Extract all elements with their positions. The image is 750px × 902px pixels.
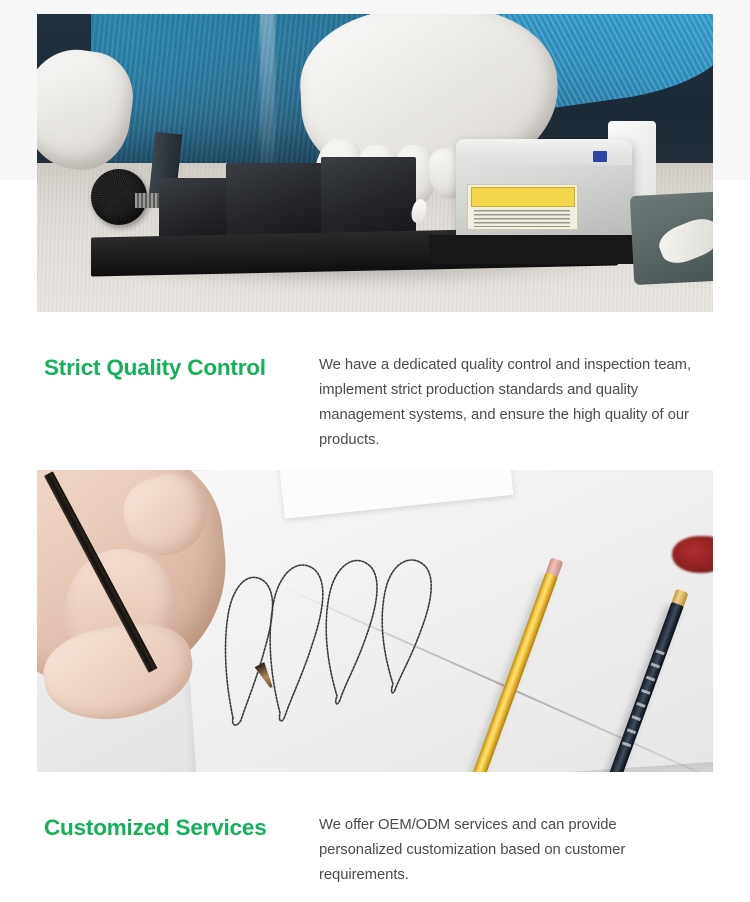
instrument-blue-sticker xyxy=(593,151,607,162)
feature-description-strict-quality-control: We have a dedicated quality control and … xyxy=(319,353,699,453)
fixture-block xyxy=(321,157,416,240)
instrument-warning-label xyxy=(467,184,578,231)
feature-block-customized-services: Customized Services We offer OEM/ODM ser… xyxy=(0,470,750,902)
quality-control-photo xyxy=(37,14,713,312)
customized-services-photo xyxy=(37,470,713,772)
feature-title-strict-quality-control: Strict Quality Control xyxy=(44,353,294,383)
quality-control-photo-scene xyxy=(37,14,713,312)
feature-block-strict-quality-control: Strict Quality Control We have a dedicat… xyxy=(0,14,750,442)
fixture-block xyxy=(226,163,334,240)
feature-text-row: Customized Services We offer OEM/ODM ser… xyxy=(0,772,750,902)
feature-description-customized-services: We offer OEM/ODM services and can provid… xyxy=(319,813,699,888)
feature-text-row: Strict Quality Control We have a dedicat… xyxy=(0,312,750,442)
scrub-placket xyxy=(260,14,275,163)
warning-label-text-lines xyxy=(474,210,570,227)
customized-services-photo-scene xyxy=(37,470,713,772)
warning-label-yellow-band xyxy=(471,187,575,207)
measuring-instrument xyxy=(456,139,632,240)
feature-title-customized-services: Customized Services xyxy=(44,813,294,843)
red-object xyxy=(672,536,713,572)
instrument-base-pad xyxy=(429,235,645,265)
